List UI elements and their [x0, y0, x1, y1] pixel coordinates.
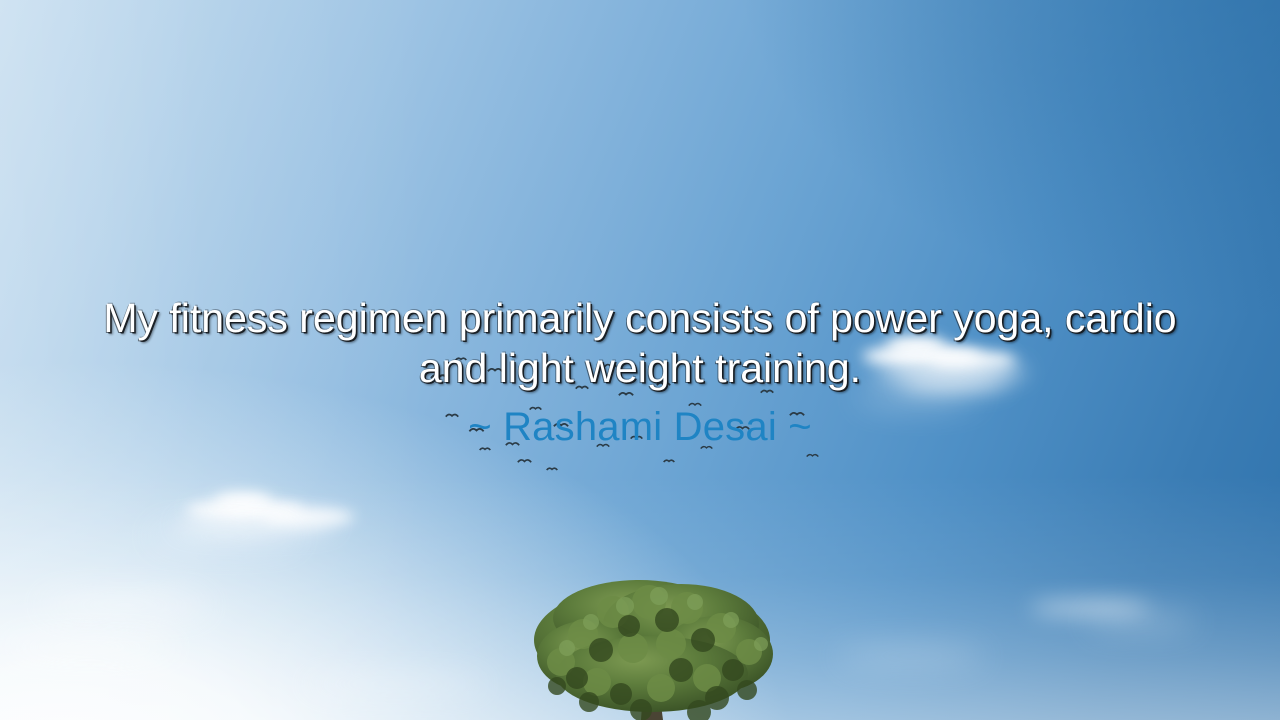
quote-image: My fitness regimen primarily consists of… [0, 0, 1280, 720]
bird-icon [663, 458, 675, 464]
bird-icon [806, 452, 819, 459]
bird-icon [517, 457, 532, 465]
quote-text: My fitness regimen primarily consists of… [95, 293, 1185, 393]
quote-block: My fitness regimen primarily consists of… [0, 293, 1280, 451]
tree [521, 578, 783, 720]
bird-icon [546, 466, 558, 472]
quote-author: ~ Rashami Desai ~ [0, 403, 1280, 451]
